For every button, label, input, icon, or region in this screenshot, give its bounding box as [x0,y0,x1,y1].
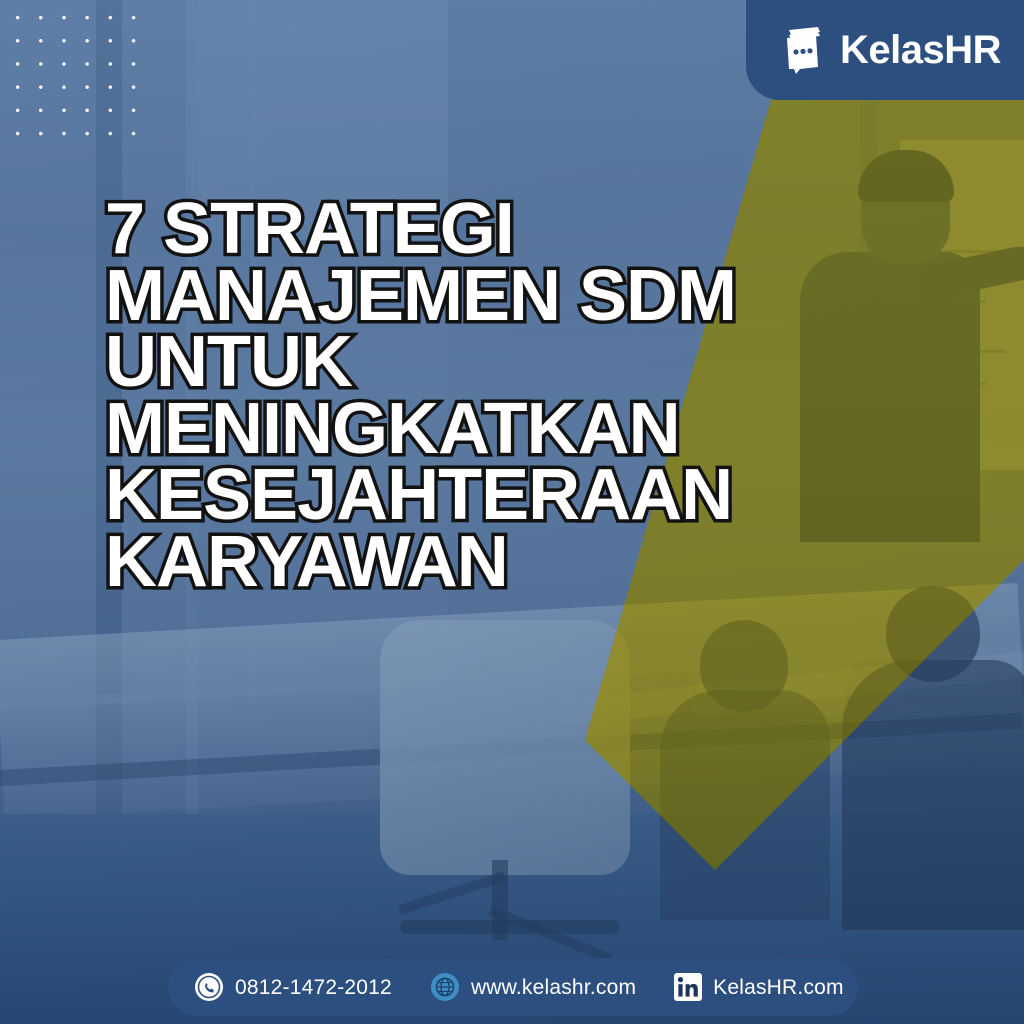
dot-grid-decoration [4,4,154,144]
brand-name: KelasHR [840,30,1001,70]
poster-canvas: KelasHR 7 STRATEGI MANAJEMEN SDM UNTUK M… [0,0,1024,1024]
page-title: 7 STRATEGI MANAJEMEN SDM UNTUK MENINGKAT… [105,196,865,596]
contact-label: 0812-1472-2012 [235,977,392,998]
contact-label: www.kelashr.com [471,977,636,998]
footer-contact-bar: 0812-1472-2012 www.kelashr.com [168,958,858,1016]
linkedin-icon [674,973,702,1001]
whatsapp-icon [194,972,224,1002]
contact-label: KelasHR.com [713,977,844,998]
contact-whatsapp[interactable]: 0812-1472-2012 [194,972,392,1002]
brand-logo-badge: KelasHR [746,0,1024,100]
contact-website[interactable]: www.kelashr.com [430,972,636,1002]
globe-icon [430,972,460,1002]
book-chat-icon [780,26,826,74]
contact-linkedin[interactable]: KelasHR.com [674,973,844,1001]
